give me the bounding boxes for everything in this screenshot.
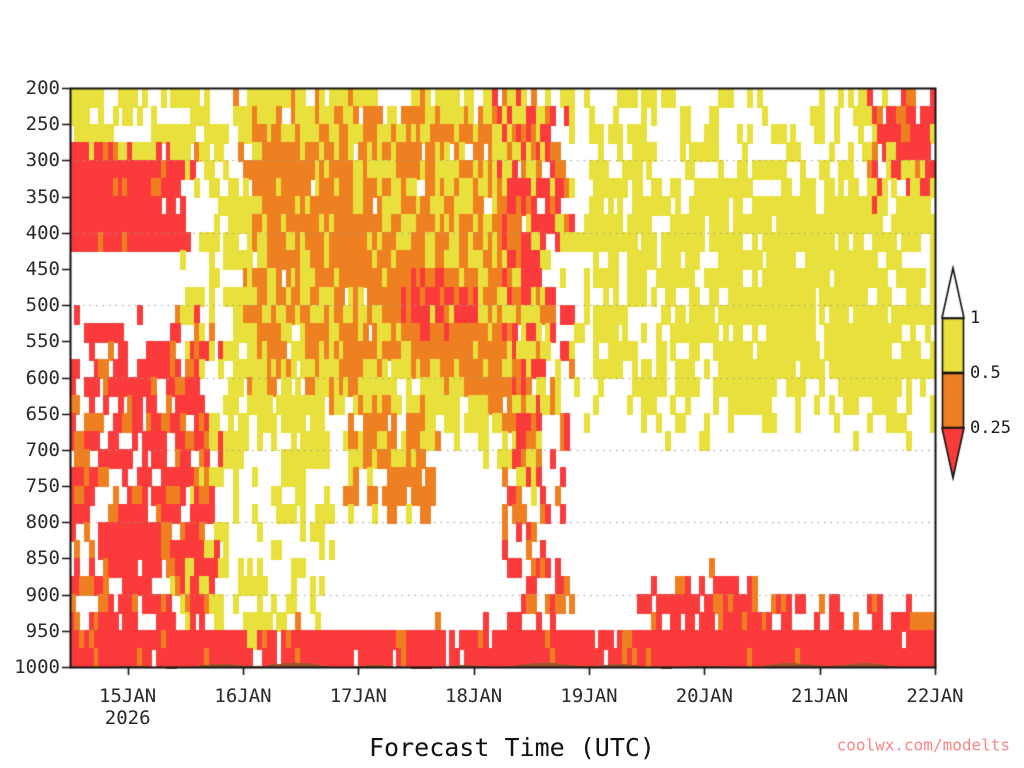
colorbar-tick-0p25: 0.25 [970,418,1011,438]
chart-root: 2026011412 GFS Forecast Richardson# KGNV… [0,0,1024,768]
richardson-number-heatmap[interactable] [0,0,1024,768]
y-tick-600: 600 [26,367,60,389]
x-tick-17JAN: 17JAN [330,685,387,707]
y-tick-1000: 1000 [14,656,60,678]
y-tick-850: 850 [26,547,60,569]
x-tick-15JAN: 15JAN [99,685,156,707]
x-tick-16JAN: 16JAN [214,685,271,707]
y-tick-450: 450 [26,258,60,280]
y-tick-500: 500 [26,294,60,316]
x-axis-year-label: 2026 [105,707,151,729]
x-tick-18JAN: 18JAN [445,685,502,707]
y-tick-550: 550 [26,330,60,352]
y-tick-650: 650 [26,403,60,425]
y-tick-700: 700 [26,439,60,461]
y-tick-200: 200 [26,77,60,99]
colorbar-tick-1: 1 [970,308,980,328]
y-tick-750: 750 [26,475,60,497]
y-tick-950: 950 [26,620,60,642]
x-tick-19JAN: 19JAN [560,685,617,707]
colorbar-tick-0p5: 0.5 [970,363,1001,383]
y-tick-400: 400 [26,222,60,244]
y-tick-300: 300 [26,149,60,171]
y-tick-350: 350 [26,186,60,208]
y-tick-900: 900 [26,584,60,606]
y-tick-800: 800 [26,511,60,533]
watermark-credit: coolwx.com/modelts [837,736,1010,755]
y-tick-250: 250 [26,113,60,135]
x-tick-22JAN: 22JAN [906,685,963,707]
x-tick-20JAN: 20JAN [676,685,733,707]
x-tick-21JAN: 21JAN [791,685,848,707]
